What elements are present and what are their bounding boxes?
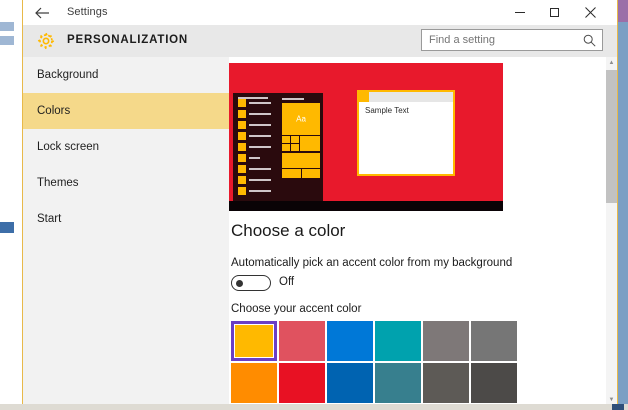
accent-swatch[interactable] [375,363,421,403]
accent-swatch[interactable] [279,363,325,403]
sidebar: Background Colors Lock screen Themes Sta… [23,57,229,406]
accent-swatch-fill [423,363,469,403]
accent-swatch-fill [375,363,421,403]
sidebar-item-label: Background [37,69,98,81]
sidebar-item-label: Lock screen [37,141,99,153]
section-heading: Choose a color [231,221,345,241]
auto-accent-toggle[interactable] [231,275,271,291]
minimize-icon [515,12,525,13]
gear-icon [36,31,56,51]
accent-swatch[interactable] [423,363,469,403]
preview-start-app-row [238,154,276,164]
desktop-taskbar-sliver [0,222,14,233]
preview-start-app-row [238,121,276,131]
os-taskbar-chip [612,404,624,410]
sidebar-item-label: Colors [37,105,70,117]
search-icon[interactable] [583,34,596,47]
preview-start-app-row [238,176,276,186]
preview-sample-titlebar [359,92,453,102]
preview-sample-app-icon [359,92,369,102]
accent-swatch[interactable] [471,363,517,403]
accent-swatch-fill [279,363,325,403]
auto-accent-label: Automatically pick an accent color from … [231,257,512,269]
body-area: Background Colors Lock screen Themes Sta… [23,57,617,406]
search-input[interactable] [429,34,579,46]
window-title: Settings [67,6,108,18]
accent-swatch-fill [327,321,373,361]
preview-start-tiles: Aa [282,103,320,178]
accent-color-label: Choose your accent color [231,303,361,315]
accent-swatch[interactable] [231,363,277,403]
title-bar: Settings [23,0,617,25]
preview-tile-group [282,136,320,152]
scrollbar-thumb[interactable] [606,70,617,203]
theme-preview: Aa Sample Text [229,63,503,211]
app-header: PERSONALIZATION [23,25,617,57]
search-box[interactable] [421,29,603,51]
desktop-icon-sliver [0,36,14,45]
content-scrollbar[interactable]: ▲ ▼ [606,57,617,406]
preview-start-app-list [238,99,276,198]
os-taskbar [0,404,628,410]
accent-swatch-fill [279,321,325,361]
sidebar-item-label: Themes [37,177,79,189]
accent-swatch-fill [327,363,373,403]
accent-swatch[interactable] [423,321,469,361]
preview-sample-text: Sample Text [365,106,409,115]
preview-tiles-header-line [282,98,304,100]
preview-start-app-row [238,132,276,142]
accent-swatch[interactable] [231,321,277,361]
preview-tile-large: Aa [282,103,320,135]
accent-swatch[interactable] [327,363,373,403]
accent-swatch[interactable] [279,321,325,361]
close-button[interactable] [575,0,605,25]
accent-swatch-fill [423,321,469,361]
sidebar-item-background[interactable]: Background [23,57,229,93]
accent-color-grid [231,321,517,406]
accent-swatch-fill [375,321,421,361]
scroll-up-arrow[interactable]: ▲ [606,57,617,69]
desktop-right-accent-sliver [617,0,628,22]
toggle-knob [236,280,243,287]
sidebar-item-colors[interactable]: Colors [23,93,229,129]
accent-swatch[interactable] [327,321,373,361]
sidebar-item-start[interactable]: Start [23,201,229,237]
desktop-right-sliver [617,0,628,410]
back-button[interactable] [29,3,55,23]
sidebar-item-label: Start [37,213,61,225]
accent-swatch-fill [235,325,273,357]
accent-swatch[interactable] [375,321,421,361]
accent-swatch-fill [471,321,517,361]
accent-swatch-fill [231,363,277,403]
preview-start-app-row [238,99,276,109]
settings-window: Settings PERSONALIZATION [22,0,618,406]
preview-start-app-row [238,143,276,153]
maximize-button[interactable] [539,0,569,25]
content-pane: Aa Sample Text [229,57,617,406]
accent-swatch[interactable] [471,321,517,361]
sidebar-item-lock-screen[interactable]: Lock screen [23,129,229,165]
sidebar-item-themes[interactable]: Themes [23,165,229,201]
preview-start-menu: Aa [233,93,323,204]
preview-tile-medium [282,153,320,168]
toggle-state-label: Off [279,276,294,288]
preview-taskbar [229,201,503,211]
close-icon [585,7,596,18]
preview-tile-label: Aa [296,115,306,124]
accent-swatch-fill [471,363,517,403]
preview-tile-pair [282,169,320,178]
preview-start-app-row [238,165,276,175]
desktop-icon-sliver [0,22,14,31]
minimize-button[interactable] [505,0,535,25]
page-title: PERSONALIZATION [67,34,188,46]
preview-start-app-row [238,187,276,197]
preview-start-app-row [238,110,276,120]
preview-sample-window: Sample Text [357,90,455,176]
maximize-icon [550,8,559,17]
